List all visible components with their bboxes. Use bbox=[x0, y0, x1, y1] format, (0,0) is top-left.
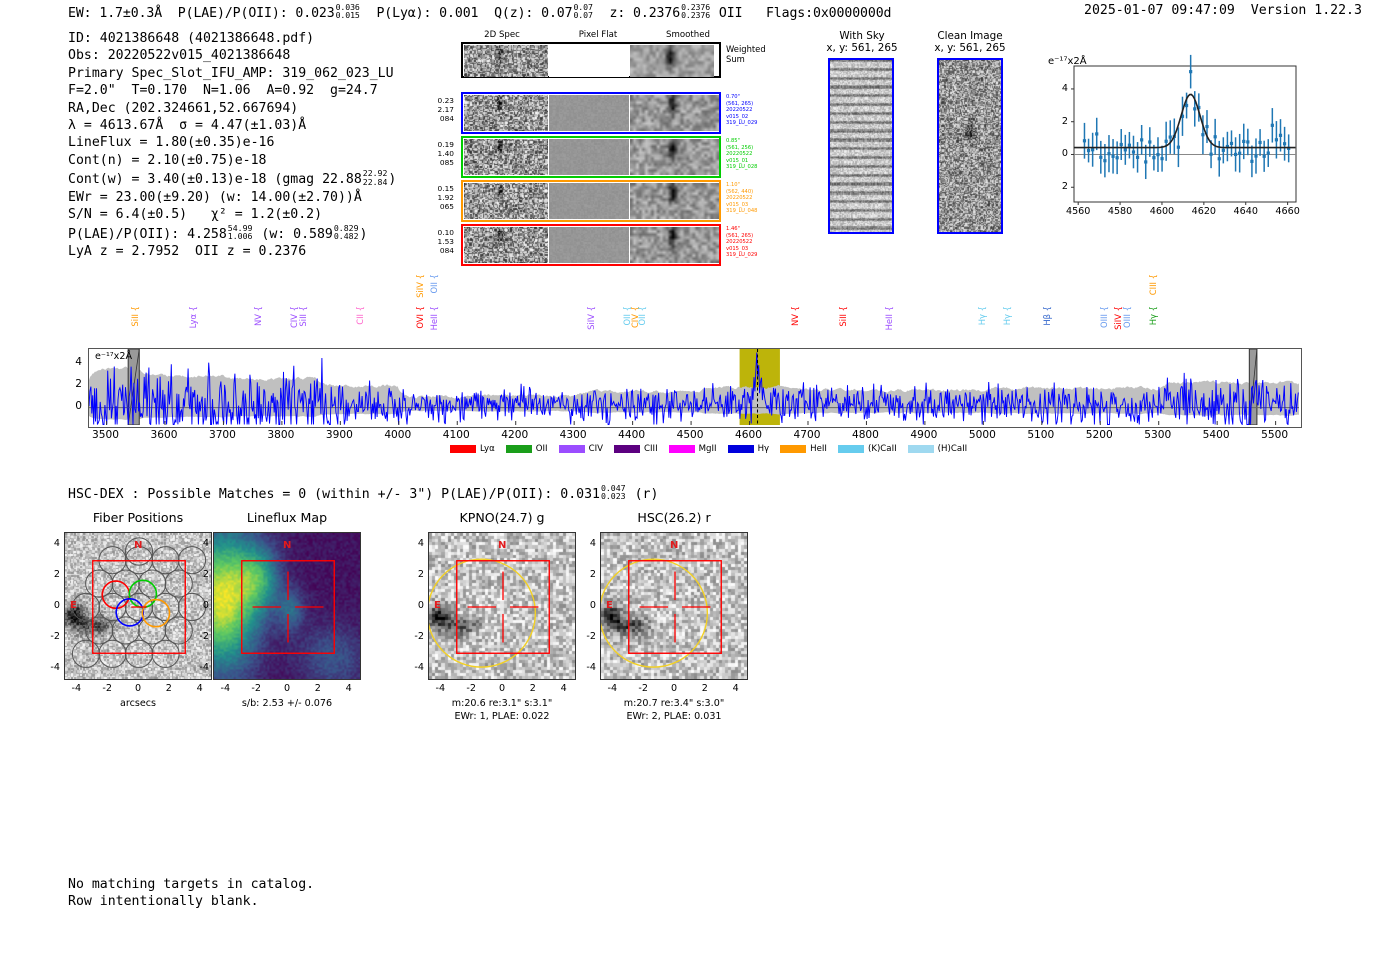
cutout-ytick: -2 bbox=[40, 631, 60, 642]
fiber-smoothed-image bbox=[630, 183, 719, 219]
aperture-ellipse bbox=[429, 559, 535, 667]
cutout-image[interactable] bbox=[428, 532, 576, 680]
fiber-smoothed-image bbox=[630, 139, 719, 175]
fiber-circle-highlighted bbox=[116, 599, 143, 626]
header-timestamp-block: 2025-01-07 09:47:09 Version 1.22.3 bbox=[1084, 3, 1362, 18]
info-plae-range: 54.991.006 bbox=[228, 224, 253, 241]
spectrum-ytick: 4 bbox=[62, 356, 82, 368]
fiber-circle bbox=[139, 617, 166, 644]
fiber-circle bbox=[86, 617, 113, 644]
hsc-dex-band: (r) bbox=[635, 487, 659, 502]
spectral-line-label: Hγ { bbox=[1002, 306, 1012, 325]
legend-swatch bbox=[450, 445, 476, 453]
cutout-panel-title: HSC(26.2) r bbox=[600, 510, 748, 525]
fiber-smoothed-image bbox=[630, 227, 719, 263]
fiber-meta-line: 319_LU_028 bbox=[726, 164, 757, 171]
legend-label: Hγ bbox=[758, 444, 770, 454]
plae-label: P(LAE)/P(OII): bbox=[178, 6, 288, 21]
legend-item: Hγ bbox=[728, 444, 770, 454]
spectral-line-label: CIII { bbox=[1148, 274, 1158, 295]
lineplot-ytick: 2 bbox=[1048, 116, 1068, 127]
compass-north-label: N bbox=[670, 540, 678, 551]
hsc-dex-range: 0.0470.023 bbox=[601, 484, 626, 501]
bottom-cutout-panels: Fiber PositionsNE-4-2024420-2-4arcsecsLi… bbox=[0, 510, 1400, 740]
fiber-meta-line: v015_02 bbox=[726, 114, 757, 121]
weighted-sum-row bbox=[461, 42, 721, 78]
fiber-meta-line: 319_LU_029 bbox=[726, 120, 757, 127]
cutout-panel-title: KPNO(24.7) g bbox=[428, 510, 576, 525]
legend-label: (K)CaII bbox=[868, 444, 897, 454]
qz-value: 0.07 bbox=[541, 6, 572, 21]
fiber-stat-value: 0.10 bbox=[418, 228, 454, 237]
cutout-clean-title: Clean Image bbox=[915, 30, 1025, 42]
cutout-xtick: 2 bbox=[519, 683, 547, 694]
cutout-panel: KPNO(24.7) g bbox=[428, 510, 584, 525]
spectral-line-label: HeII { bbox=[884, 306, 894, 330]
spectral-line-label: Hγ { bbox=[1148, 306, 1158, 325]
fiber-2dspec-image bbox=[464, 183, 548, 219]
legend-label: CIII bbox=[644, 444, 658, 454]
cutout-ytick: 4 bbox=[576, 538, 596, 549]
spectral-line-label: OIII { bbox=[1099, 306, 1109, 328]
plya-value: 0.001 bbox=[439, 6, 478, 21]
fiber-row-metadata: 0.85"(561, 256)20220522v015_01319_LU_028 bbox=[726, 138, 757, 171]
spectrum-xtick: 5200 bbox=[1073, 429, 1125, 441]
legend-swatch bbox=[728, 445, 754, 453]
spectral-line-label: NV { bbox=[253, 306, 263, 326]
spectrum-line-markers: SiII {Lyα {NV {CIV {SiII {CII {SiIV {OVI… bbox=[0, 272, 1400, 348]
spectral-line-label: OVI { bbox=[415, 306, 425, 329]
info-lineflux: LineFlux = 1.80(±0.35)e-16 bbox=[68, 134, 396, 151]
fiber-row[interactable] bbox=[461, 92, 721, 134]
cutout-overlay bbox=[214, 533, 361, 680]
spectral-line-label: SiII { bbox=[130, 306, 140, 327]
spectrum-xtick: 4200 bbox=[489, 429, 541, 441]
full-spectrum-plot: e⁻¹⁷x2Å bbox=[88, 348, 1302, 428]
fiber-stat-value: 1.92 bbox=[418, 193, 454, 202]
fiber-meta-line: 1.46" bbox=[726, 226, 757, 233]
spectral-line-label: SiIV { bbox=[586, 306, 596, 330]
z-species: OII bbox=[719, 6, 743, 21]
fiber-2dspec-image bbox=[464, 139, 548, 175]
compass-east-label: E bbox=[606, 600, 613, 611]
spectrum-xtick: 3800 bbox=[255, 429, 307, 441]
legend-swatch bbox=[669, 445, 695, 453]
cutout-xtick: 0 bbox=[273, 683, 301, 694]
cutout-ytick: 4 bbox=[40, 538, 60, 549]
legend-label: Lyα bbox=[480, 444, 495, 454]
spectral-line-label: Lyα { bbox=[188, 306, 198, 328]
fiber-meta-line: 20220522 bbox=[726, 239, 757, 246]
fiber-row-stats: 0.232.17084 bbox=[418, 96, 454, 124]
spectrum-xtick: 5400 bbox=[1190, 429, 1242, 441]
fiber-meta-line: 20220522 bbox=[726, 195, 757, 202]
cont-w-gmag-range: 22.9222.84 bbox=[363, 169, 388, 186]
footer-line-1: No matching targets in catalog. bbox=[68, 876, 314, 893]
cutout-with-sky: With Sky x, y: 561, 265 bbox=[812, 30, 912, 55]
plae-value: 0.023 bbox=[295, 6, 334, 21]
fiber-meta-line: v015_01 bbox=[726, 158, 757, 165]
fiber-stat-value: 1.53 bbox=[418, 237, 454, 246]
cutout-xtick: -2 bbox=[242, 683, 270, 694]
cutout-ytick: -4 bbox=[189, 662, 209, 673]
cutout-ytick: 2 bbox=[576, 569, 596, 580]
cutout-xtick: 2 bbox=[304, 683, 332, 694]
fiber-circle-highlighted bbox=[142, 600, 169, 627]
fiber-row[interactable] bbox=[461, 180, 721, 222]
aperture-ellipse bbox=[601, 559, 707, 667]
fiber-stat-value: 2.17 bbox=[418, 105, 454, 114]
fiber-meta-line: (561, 265) bbox=[726, 233, 757, 240]
legend-item: HeII bbox=[780, 444, 827, 454]
cutout-ytick: -4 bbox=[404, 662, 424, 673]
cutout-overlay bbox=[429, 533, 576, 680]
plya-label: P(Lyα): bbox=[376, 6, 431, 21]
cutout-ytick: 0 bbox=[576, 600, 596, 611]
info-cont-w: Cont(w) = 3.40(±0.13)e-18 (gmag 22.8822.… bbox=[68, 169, 396, 189]
fiber-meta-line: 20220522 bbox=[726, 151, 757, 158]
fiber-row-stats: 0.151.92065 bbox=[418, 184, 454, 212]
cutout-ytick: -2 bbox=[404, 631, 424, 642]
fiber-stat-value: 084 bbox=[418, 246, 454, 255]
spectrum-xtick: 4900 bbox=[898, 429, 950, 441]
legend-item: (K)CaII bbox=[838, 444, 897, 454]
footer-note: No matching targets in catalog. Row inte… bbox=[68, 876, 314, 911]
cutout-xtick: -2 bbox=[457, 683, 485, 694]
cutout-ytick: -2 bbox=[576, 631, 596, 642]
lineplot-ytick: 2 bbox=[1048, 181, 1068, 192]
cutout-panel: HSC(26.2) r bbox=[600, 510, 756, 525]
compass-north-label: N bbox=[498, 540, 506, 551]
column-title-2dspec: 2D Spec bbox=[452, 30, 552, 40]
cutout-with-sky-title: With Sky bbox=[812, 30, 912, 42]
lineplot-xtick: 4580 bbox=[1103, 206, 1137, 217]
legend-label: CIV bbox=[589, 444, 603, 454]
ew-value: 1.7±0.3Å bbox=[99, 6, 162, 21]
cutout-xtick: -4 bbox=[62, 683, 90, 694]
spectral-line-label: SiII { bbox=[838, 306, 848, 327]
spectral-line-label: OIII { bbox=[1122, 306, 1132, 328]
qz-range: 0.070.07 bbox=[573, 3, 592, 20]
cutout-footer-line-1: m:20.6 re:3.1" s:3.1" bbox=[406, 698, 598, 710]
cutout-image[interactable] bbox=[600, 532, 748, 680]
legend-label: HeII bbox=[810, 444, 827, 454]
spectrum-xtick: 5100 bbox=[1015, 429, 1067, 441]
weighted-sum-pixelflat-image bbox=[549, 45, 629, 77]
spectrum-xtick: 4400 bbox=[606, 429, 658, 441]
fiber-row-metadata: 1.46"(561, 265)20220522v015_03319_LU_029 bbox=[726, 226, 757, 259]
cutout-xtick: 0 bbox=[124, 683, 152, 694]
info-cont-n: Cont(n) = 2.10(±0.75)e-18 bbox=[68, 152, 396, 169]
spectrum-xtick: 3700 bbox=[196, 429, 248, 441]
legend-item: MgII bbox=[669, 444, 717, 454]
emission-line-fit-plot: e⁻¹⁷x2Å 456045804600462046404660 4202 bbox=[1040, 52, 1302, 212]
legend-swatch bbox=[506, 445, 532, 453]
legend-item: CIV bbox=[559, 444, 603, 454]
fiber-meta-line: (562, 440) bbox=[726, 189, 757, 196]
fiber-meta-line: (561, 256) bbox=[726, 145, 757, 152]
spectrum-xtick: 4800 bbox=[839, 429, 891, 441]
spectral-line-label: Hβ { bbox=[1042, 306, 1052, 326]
header-summary-line: EW: 1.7±0.3Å P(LAE)/P(OII): 0.0230.0360.… bbox=[68, 3, 891, 21]
fiber-row-metadata: 0.70"(561, 265)20220522v015_02319_LU_029 bbox=[726, 94, 757, 127]
clean-image bbox=[937, 58, 1003, 234]
info-redshifts: LyA z = 2.7952 OII z = 0.2376 bbox=[68, 243, 396, 260]
cutout-footer-line-1: s/b: 2.53 +/- 0.076 bbox=[191, 698, 383, 710]
info-plae-w-range: 0.8290.482 bbox=[334, 224, 359, 241]
cutout-clean-image: Clean Image x, y: 561, 265 bbox=[915, 30, 1025, 55]
hsc-dex-summary: HSC-DEX : Possible Matches = 0 (within +… bbox=[68, 484, 658, 502]
spectrum-ytick: 2 bbox=[62, 378, 82, 390]
info-id: ID: 4021386648 (4021386648.pdf) bbox=[68, 30, 396, 47]
legend-swatch bbox=[838, 445, 864, 453]
lineplot-xtick: 4560 bbox=[1061, 206, 1095, 217]
fiber-meta-line: 319_LU_029 bbox=[726, 252, 757, 259]
qz-label: Q(z): bbox=[494, 6, 533, 21]
info-sn: S/N = 6.4(±0.5) χ² = 1.2(±0.2) bbox=[68, 206, 396, 223]
fiber-circle bbox=[112, 617, 139, 644]
cutout-ytick: 2 bbox=[404, 569, 424, 580]
cutout-xtick: 4 bbox=[335, 683, 363, 694]
fiber-row-stats: 0.191.40085 bbox=[418, 140, 454, 168]
cutout-ytick: -2 bbox=[189, 631, 209, 642]
fiber-row[interactable] bbox=[461, 224, 721, 266]
lineplot-xtick: 4660 bbox=[1271, 206, 1305, 217]
cutout-ytick: 2 bbox=[40, 569, 60, 580]
cutout-xtick: -4 bbox=[598, 683, 626, 694]
cutout-panel: Fiber Positions bbox=[64, 510, 220, 525]
z-value: 0.2376 bbox=[633, 6, 680, 21]
spectrum-ytick: 0 bbox=[62, 400, 82, 412]
spectral-line-label: CII { bbox=[355, 306, 365, 325]
hsc-dex-text: HSC-DEX : Possible Matches = 0 (within +… bbox=[68, 487, 600, 502]
cutout-image[interactable] bbox=[213, 532, 361, 680]
fiber-row-stats: 0.101.53084 bbox=[418, 228, 454, 256]
fiber-meta-line: (561, 265) bbox=[726, 101, 757, 108]
spectrum-xtick: 5000 bbox=[956, 429, 1008, 441]
z-label: z: bbox=[609, 6, 625, 21]
fiber-stat-value: 085 bbox=[418, 158, 454, 167]
fiber-meta-line: v015_03 bbox=[726, 246, 757, 253]
lineplot-xtick: 4600 bbox=[1145, 206, 1179, 217]
fiber-pixelflat-image bbox=[549, 139, 629, 175]
spectrum-svg bbox=[89, 349, 1299, 425]
legend-swatch bbox=[780, 445, 806, 453]
flags-label: Flags:0x0000000d bbox=[766, 6, 891, 21]
lineplot-ytick: 4 bbox=[1048, 83, 1068, 94]
compass-east-label: E bbox=[434, 600, 441, 611]
legend-swatch bbox=[908, 445, 934, 453]
cutout-footer-line-1: m:20.7 re:3.4" s:3.0" bbox=[578, 698, 770, 710]
cutout-overlay bbox=[601, 533, 748, 680]
info-radec: RA,Dec (202.324661,52.667694) bbox=[68, 100, 396, 117]
column-title-smoothed: Smoothed bbox=[638, 30, 738, 40]
spectrum-legend: LyαOIICIVCIIIMgIIHγHeII(K)CaII(H)CaII bbox=[450, 444, 978, 454]
compass-east-label: E bbox=[70, 600, 77, 611]
report-version: Version 1.22.3 bbox=[1251, 3, 1362, 18]
spectrum-xtick: 5300 bbox=[1132, 429, 1184, 441]
info-lambda: λ = 4613.67Å σ = 4.47(±1.03)Å bbox=[68, 117, 396, 134]
spectral-line-label: HeII { bbox=[429, 306, 439, 330]
fiber-stat-value: 0.15 bbox=[418, 184, 454, 193]
spectrum-xtick: 4000 bbox=[372, 429, 424, 441]
legend-swatch bbox=[559, 445, 585, 453]
fiber-row-metadata: 1.10"(562, 440)20220522v015_03319_LU_048 bbox=[726, 182, 757, 215]
column-title-pixelflat: Pixel Flat bbox=[548, 30, 648, 40]
cutout-xtick: -2 bbox=[629, 683, 657, 694]
fiber-2dspec-image bbox=[464, 95, 548, 131]
plae-range: 0.0360.015 bbox=[336, 3, 360, 20]
cutout-panel-title: Fiber Positions bbox=[64, 510, 212, 525]
spectrum-xtick: 3500 bbox=[80, 429, 132, 441]
spectrum-xtick: 3600 bbox=[138, 429, 190, 441]
report-datetime: 2025-01-07 09:47:09 bbox=[1084, 3, 1235, 18]
cutout-ytick: -4 bbox=[576, 662, 596, 673]
fiber-stat-value: 0.23 bbox=[418, 96, 454, 105]
lineplot-ytick: 0 bbox=[1048, 148, 1068, 159]
fiber-meta-line: 0.70" bbox=[726, 94, 757, 101]
legend-label: OII bbox=[536, 444, 548, 454]
fiber-stat-value: 065 bbox=[418, 202, 454, 211]
cutout-xtick: 2 bbox=[155, 683, 183, 694]
spectrum-xtick: 4700 bbox=[781, 429, 833, 441]
fiber-pixelflat-image bbox=[549, 227, 629, 263]
cutout-footer-line-2: EWr: 2, PLAE: 0.031 bbox=[578, 711, 770, 723]
compass-north-label: N bbox=[283, 540, 291, 551]
cutout-xtick: -4 bbox=[426, 683, 454, 694]
compass-north-label: N bbox=[134, 540, 142, 551]
fiber-pixelflat-image bbox=[549, 183, 629, 219]
fiber-pixelflat-image bbox=[549, 95, 629, 131]
legend-item: OII bbox=[506, 444, 548, 454]
info-params: F=2.0" T=0.170 N=1.06 A=0.92 g=24.7 bbox=[68, 82, 396, 99]
cutout-ytick: 4 bbox=[404, 538, 424, 549]
spec2d-panel-group: 2D Spec Pixel Flat Smoothed Weighted Sum… bbox=[430, 30, 790, 260]
spectrum-xtick: 4600 bbox=[723, 429, 775, 441]
spectrum-xtick: 4100 bbox=[430, 429, 482, 441]
spectrum-units-label: e⁻¹⁷x2Å bbox=[95, 351, 132, 362]
fiber-meta-line: v015_03 bbox=[726, 202, 757, 209]
spectrum-xtick: 4500 bbox=[664, 429, 716, 441]
cutout-xtick: 4 bbox=[550, 683, 578, 694]
cutout-xtick: -2 bbox=[93, 683, 121, 694]
fiber-meta-line: 0.85" bbox=[726, 138, 757, 145]
weighted-sum-label: Weighted Sum bbox=[726, 44, 766, 64]
fiber-meta-line: 20220522 bbox=[726, 107, 757, 114]
cutout-ytick: 0 bbox=[404, 600, 424, 611]
weighted-sum-smoothed-image bbox=[630, 45, 714, 77]
spectral-line-label: NV { bbox=[790, 306, 800, 326]
cutout-clean-coords: x, y: 561, 265 bbox=[915, 42, 1025, 54]
z-range: 0.23760.2376 bbox=[681, 3, 710, 20]
fiber-smoothed-image bbox=[630, 95, 719, 131]
fiber-stat-value: 084 bbox=[418, 114, 454, 123]
spectrum-xtick: 3900 bbox=[313, 429, 365, 441]
weighted-sum-2dspec-image bbox=[464, 45, 548, 77]
cutout-ytick: -4 bbox=[40, 662, 60, 673]
spectrum-xtick: 5500 bbox=[1249, 429, 1301, 441]
legend-item: CIII bbox=[614, 444, 658, 454]
legend-label: MgII bbox=[699, 444, 717, 454]
footer-line-2: Row intentionally blank. bbox=[68, 893, 314, 910]
cutout-footer-line-2: EWr: 1, PLAE: 0.022 bbox=[406, 711, 598, 723]
spectral-line-label: SiII { bbox=[298, 306, 308, 327]
legend-item: Lyα bbox=[450, 444, 495, 454]
cutout-xtick: 0 bbox=[660, 683, 688, 694]
legend-item: (H)CaII bbox=[908, 444, 968, 454]
spectral-line-label: OII { bbox=[429, 274, 439, 294]
with-sky-image bbox=[828, 58, 894, 234]
legend-swatch bbox=[614, 445, 640, 453]
cutout-panel: Lineflux Map bbox=[213, 510, 369, 525]
info-plae: P(LAE)/P(OII): 4.25854.991.006 (w: 0.589… bbox=[68, 224, 396, 244]
info-ewr: EWr = 23.00(±9.20) (w: 14.00(±2.70))Å bbox=[68, 189, 396, 206]
cutout-panel-title: Lineflux Map bbox=[213, 510, 361, 525]
fiber-row[interactable] bbox=[461, 136, 721, 178]
cutout-xtick: -4 bbox=[211, 683, 239, 694]
cutout-xtick: 2 bbox=[691, 683, 719, 694]
spectral-line-label: Hγ { bbox=[977, 306, 987, 325]
cutout-xtick: 4 bbox=[186, 683, 214, 694]
fiber-meta-line: 319_LU_048 bbox=[726, 208, 757, 215]
detection-info-block: ID: 4021386648 (4021386648.pdf) Obs: 202… bbox=[68, 30, 396, 261]
info-slot: Primary Spec_Slot_IFU_AMP: 319_062_023_L… bbox=[68, 65, 396, 82]
spectrum-xtick: 4300 bbox=[547, 429, 599, 441]
legend-label: (H)CaII bbox=[938, 444, 968, 454]
fiber-2dspec-image bbox=[464, 227, 548, 263]
cutout-ytick: 4 bbox=[189, 538, 209, 549]
ew-label: EW: bbox=[68, 6, 92, 21]
cutout-with-sky-coords: x, y: 561, 265 bbox=[812, 42, 912, 54]
fiber-stat-value: 0.19 bbox=[418, 140, 454, 149]
cutout-xtick: 4 bbox=[722, 683, 750, 694]
cutout-ytick: 2 bbox=[189, 569, 209, 580]
spectral-line-label: SiIV { bbox=[415, 274, 425, 298]
cutout-ytick: 0 bbox=[40, 600, 60, 611]
info-obs: Obs: 20220522v015_4021386648 bbox=[68, 47, 396, 64]
fiber-stat-value: 1.40 bbox=[418, 149, 454, 158]
spectral-line-label: OII { bbox=[637, 306, 647, 326]
lineplot-xtick: 4640 bbox=[1229, 206, 1263, 217]
lineplot-xtick: 4620 bbox=[1187, 206, 1221, 217]
fiber-meta-line: 1.10" bbox=[726, 182, 757, 189]
cutout-ytick: 0 bbox=[189, 600, 209, 611]
cutout-xtick: 0 bbox=[488, 683, 516, 694]
